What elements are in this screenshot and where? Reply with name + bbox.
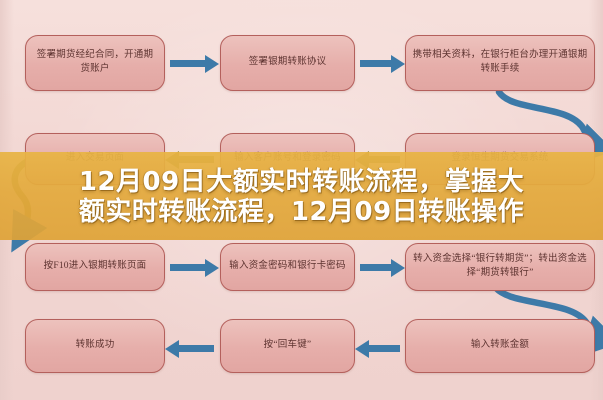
flow-node-n9[interactable]: 转入资金选择“银行转期货”；转出资金选择“期货转银行” (405, 243, 595, 291)
flow-node-n7[interactable]: 按F10进入银期转账页面 (25, 243, 165, 291)
flow-node-n10[interactable]: 输入转账金额 (405, 319, 595, 373)
arrow-n7-to-n8 (170, 264, 206, 271)
flowchart-canvas: 签署期货经纪合同，开通期货账户 签署银期转账协议 携带相关资料，在银行柜台办理开… (0, 0, 603, 400)
flow-node-n11[interactable]: 按“回车键” (220, 319, 355, 373)
flow-node-n3[interactable]: 携带相关资料，在银行柜台办理开通银期转账手续 (405, 35, 595, 91)
arrow-n10-to-n11 (368, 345, 400, 352)
flow-node-n11-label: 按“回车键” (264, 339, 312, 353)
flow-node-n7-label: 按F10进入银期转账页面 (44, 260, 147, 274)
flow-node-n2[interactable]: 签署银期转账协议 (220, 35, 355, 91)
arrow-n8-to-n9 (360, 264, 392, 271)
flow-node-n1-label: 签署期货经纪合同，开通期货账户 (32, 49, 158, 77)
flow-node-n3-label: 携带相关资料，在银行柜台办理开通银期转账手续 (412, 49, 588, 77)
arrow-n11-to-n12 (178, 345, 214, 352)
flow-node-n8-label: 输入资金密码和银行卡密码 (229, 260, 345, 274)
title-banner-background (0, 152, 603, 240)
flow-node-n9-label: 转入资金选择“银行转期货”；转出资金选择“期货转银行” (412, 253, 588, 281)
arrow-n2-to-n3 (360, 60, 392, 67)
flow-node-n10-label: 输入转账金额 (471, 339, 529, 353)
flow-node-n2-label: 签署银期转账协议 (249, 56, 327, 70)
flow-node-n1[interactable]: 签署期货经纪合同，开通期货账户 (25, 35, 165, 91)
flow-node-n12[interactable]: 转账成功 (25, 319, 165, 373)
flow-node-n8[interactable]: 输入资金密码和银行卡密码 (220, 243, 355, 291)
flow-node-n12-label: 转账成功 (76, 339, 115, 353)
arrow-n1-to-n2 (170, 60, 206, 67)
